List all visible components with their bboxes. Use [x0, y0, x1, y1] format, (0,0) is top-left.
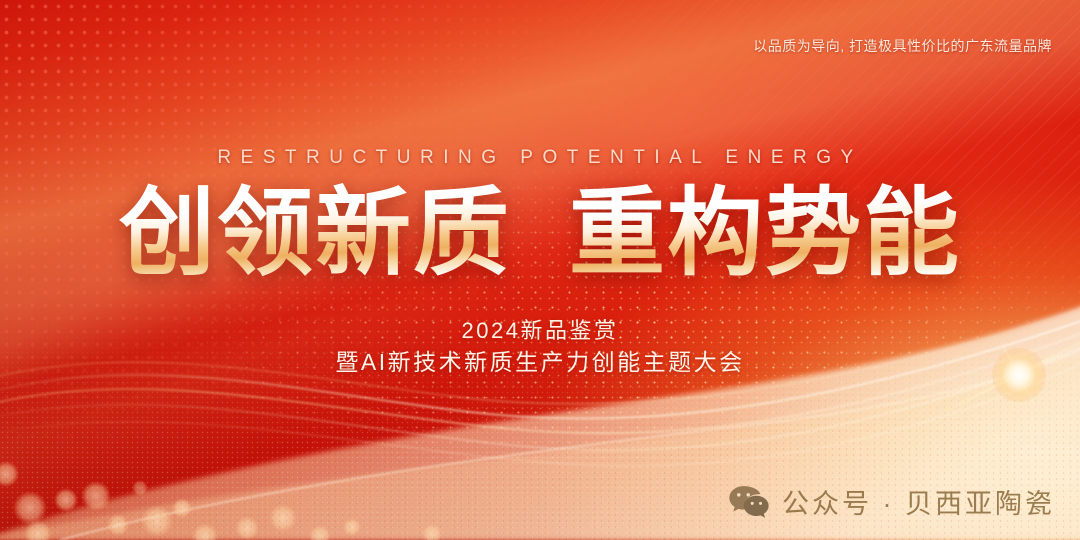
wechat-icon: [728, 485, 770, 519]
headline-part-one: 创领新质: [119, 177, 511, 289]
wechat-account-label: 公众号 · 贝西亚陶瓷: [782, 482, 1055, 521]
subtitle-line-one: 2024新品鉴赏: [0, 316, 1080, 346]
headline-part-two: 重构势能: [569, 177, 961, 289]
subtitle-line-two: 暨AI新技术新质生产力创能主题大会: [0, 346, 1080, 378]
event-poster: 以品质为导向, 打造极具性价比的广东流量品牌 RESTRUCTURING POT…: [0, 0, 1080, 540]
english-eyebrow-text: RESTRUCTURING POTENTIAL ENERGY: [0, 147, 1080, 169]
event-subtitle: 2024新品鉴赏 暨AI新技术新质生产力创能主题大会: [0, 316, 1080, 378]
wechat-account-badge[interactable]: 公众号 · 贝西亚陶瓷: [728, 482, 1055, 521]
bokeh-circles-decor: [0, 461, 442, 540]
brand-tagline: 以品质为导向, 打造极具性价比的广东流量品牌: [753, 36, 1052, 56]
page-title: 创领新质重构势能: [0, 181, 1080, 285]
